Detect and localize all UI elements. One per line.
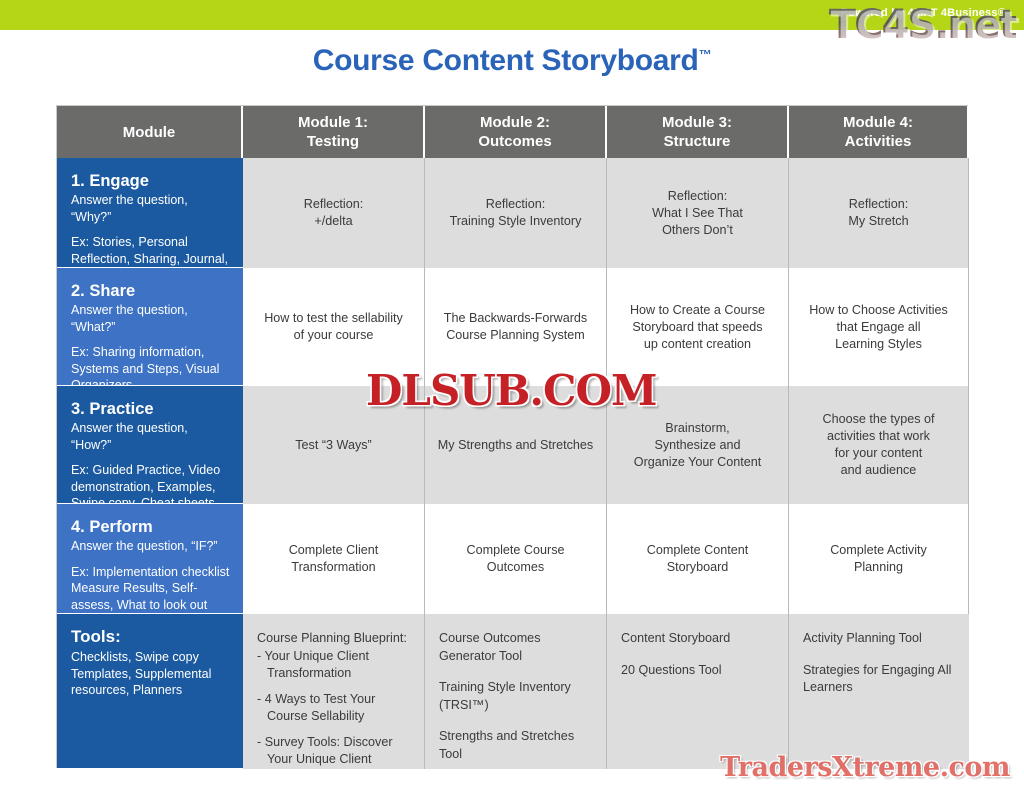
header-line-2: Outcomes: [478, 133, 551, 150]
column-header-module-4: Module 4: Activities: [789, 106, 969, 158]
row-label-examples: Ex: Implementation checklist Measure Res…: [71, 564, 231, 615]
table-cell: Complete CourseOutcomes: [425, 504, 607, 614]
row-label-title: 3. Practice: [71, 399, 231, 419]
row-label-description: Checklists, Swipe copy Templates, Supple…: [71, 649, 231, 699]
row-label-share: 2. Share Answer the question,“What?” Ex:…: [57, 268, 243, 386]
header-line-1: Module: [123, 124, 176, 141]
row-label-engage: 1. Engage Answer the question, “Why?” Ex…: [57, 158, 243, 268]
column-header-module-3: Module 3: Structure: [607, 106, 789, 158]
row-label-title: Tools:: [71, 627, 231, 647]
header-line-1: Module 2:: [480, 114, 550, 131]
table-cell: How to Choose Activitiesthat Engage allL…: [789, 268, 969, 386]
trademark-symbol: ™: [699, 47, 712, 62]
header-line-2: Structure: [664, 133, 731, 150]
table-cell: Complete ClientTransformation: [243, 504, 425, 614]
row-label-question: Answer the question, “Why?”: [71, 192, 231, 225]
tools-cell-module-4: Activity Planning Tool Strategies for En…: [789, 614, 969, 769]
tools-cell-module-1: Course Planning Blueprint: - Your Unique…: [243, 614, 425, 769]
tools-cell-module-2: Course Outcomes Generator Tool Training …: [425, 614, 607, 769]
table-cell: Complete ContentStoryboard: [607, 504, 789, 614]
tools-heading: Course Planning Blueprint:: [257, 630, 414, 648]
tools-item: 20 Questions Tool: [621, 662, 778, 680]
table-cell: Test “3 Ways”: [243, 386, 425, 504]
row-label-tools: Tools: Checklists, Swipe copy Templates,…: [57, 614, 243, 769]
column-header-module-1: Module 1: Testing: [243, 106, 425, 158]
tools-item: - 4 Ways to Test Your Course Sellability: [257, 691, 414, 726]
table-cell: Reflection:Training Style Inventory: [425, 158, 607, 268]
row-label-question: Answer the question,“What?”: [71, 302, 231, 335]
table-cell: How to test the sellabilityof your cours…: [243, 268, 425, 386]
table-cell: Complete ActivityPlanning: [789, 504, 969, 614]
header-line-1: Module 3:: [662, 114, 732, 131]
header-line-1: Module 1:: [298, 114, 368, 131]
table-cell: The Backwards-ForwardsCourse Planning Sy…: [425, 268, 607, 386]
table-cell: How to Create a CourseStoryboard that sp…: [607, 268, 789, 386]
header-line-1: Module 4:: [843, 114, 913, 131]
tools-cell-module-3: Content Storyboard 20 Questions Tool: [607, 614, 789, 769]
page-title-text: Course Content Storyboard: [313, 44, 699, 77]
tools-item: Course Outcomes Generator Tool: [439, 630, 596, 665]
row-label-perform: 4. Perform Answer the question, “IF?” Ex…: [57, 504, 243, 614]
header-line-2: Activities: [845, 133, 912, 150]
row-label-title: 2. Share: [71, 281, 231, 301]
tools-item: - Your Unique Client Transformation: [257, 648, 414, 683]
row-label-question: Answer the question, “IF?”: [71, 538, 231, 555]
header-line-2: Testing: [307, 133, 359, 150]
powered-by-label: Powered by 4MAT 4Business®: [841, 7, 1006, 19]
row-label-title: 4. Perform: [71, 517, 231, 537]
tools-item: Activity Planning Tool: [803, 630, 959, 648]
table-cell: Reflection:+/delta: [243, 158, 425, 268]
storyboard-table: Module Module 1: Testing Module 2: Outco…: [56, 105, 968, 768]
top-green-bar: Powered by 4MAT 4Business®: [0, 0, 1024, 30]
table-cell: Reflection:My Stretch: [789, 158, 969, 268]
row-label-title: 1. Engage: [71, 171, 231, 191]
tools-item: Strengths and Stretches Tool: [439, 728, 596, 763]
table-cell: My Strengths and Stretches: [425, 386, 607, 504]
tools-item: Strategies for Engaging All Learners: [803, 662, 959, 697]
row-label-examples: Ex: Stories, Personal Reflection, Sharin…: [71, 234, 231, 268]
row-label-examples: Ex: Guided Practice, Video demonstration…: [71, 462, 231, 504]
row-label-examples: Ex: Sharing information, Systems and Ste…: [71, 344, 231, 386]
tools-item: Content Storyboard: [621, 630, 778, 648]
table-cell: Brainstorm,Synthesize andOrganize Your C…: [607, 386, 789, 504]
tools-item: Training Style Inventory (TRSI™): [439, 679, 596, 714]
row-label-practice: 3. Practice Answer the question, “How?” …: [57, 386, 243, 504]
tools-item: - Survey Tools: Discover Your Unique Cli…: [257, 734, 414, 770]
row-label-question: Answer the question, “How?”: [71, 420, 231, 453]
table-cell: Choose the types ofactivities that workf…: [789, 386, 969, 504]
column-header-module-2: Module 2: Outcomes: [425, 106, 607, 158]
page-title: Course Content Storyboard™: [0, 44, 1024, 78]
table-cell: Reflection:What I See ThatOthers Don’t: [607, 158, 789, 268]
column-header-module: Module: [57, 106, 243, 158]
